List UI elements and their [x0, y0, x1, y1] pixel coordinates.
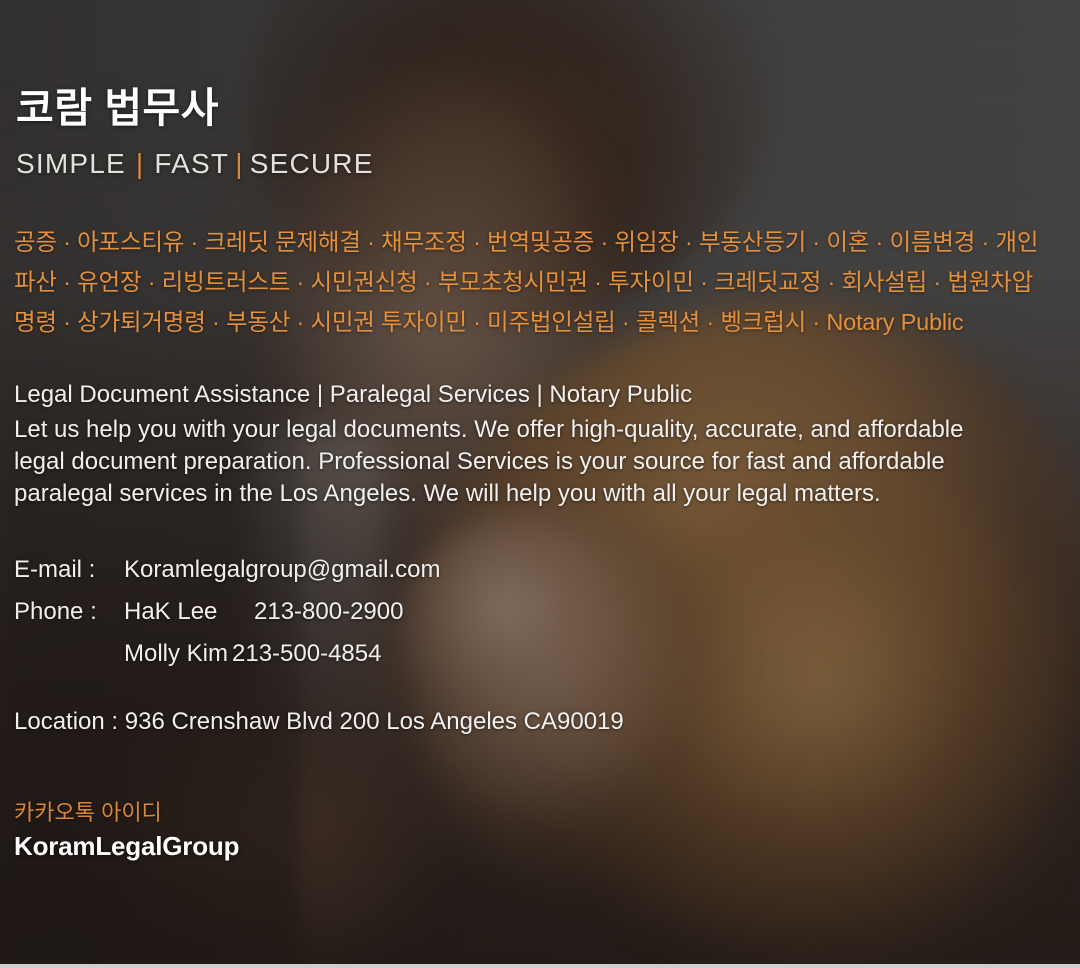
contact-row-phone-secondary: Molly Kim213-500-4854: [14, 640, 441, 682]
services-line-3: 명령 · 상가퇴거명령 · 부동산 · 시민권 투자이민 · 미주법인설립 · …: [14, 302, 1066, 342]
bottom-edge-strip: [0, 964, 1080, 968]
kakao-id-value[interactable]: KoramLegalGroup: [14, 828, 239, 864]
english-paragraph-line-3: paralegal services in the Los Angeles. W…: [14, 478, 1060, 510]
legal-services-poster: 코람 법무사 SIMPLE|FAST|SECURE 공증 · 아포스티유 · 크…: [0, 0, 1080, 968]
english-paragraph-line-1: Let us help you with your legal document…: [14, 414, 1060, 446]
location-address: Location : 936 Crenshaw Blvd 200 Los Ang…: [14, 708, 624, 736]
english-paragraph-line-2: legal document preparation. Professional…: [14, 446, 1060, 478]
phone-secondary-name: Molly Kim: [124, 640, 232, 668]
services-list: 공증 · 아포스티유 · 크레딧 문제해결 · 채무조정 · 번역및공증 · 위…: [14, 222, 1066, 342]
contact-row-phone-primary: Phone : HaK Lee213-800-2900: [14, 598, 441, 640]
brand-tagline: SIMPLE|FAST|SECURE: [16, 148, 374, 180]
phone-secondary-number[interactable]: 213-500-4854: [232, 640, 381, 667]
contact-block: E-mail : Koramlegalgroup@gmail.com Phone…: [14, 556, 441, 682]
tagline-separator-1: |: [126, 148, 154, 179]
phone-primary-number[interactable]: 213-800-2900: [254, 598, 403, 625]
phone-secondary-value: Molly Kim213-500-4854: [124, 640, 381, 668]
phone-label: Phone :: [14, 598, 124, 626]
tagline-word-secure: SECURE: [250, 148, 374, 179]
english-services-heading: Legal Document Assistance | Paralegal Se…: [14, 378, 1060, 412]
phone-primary-value: HaK Lee213-800-2900: [124, 598, 403, 626]
page-title: 코람 법무사: [16, 88, 219, 129]
services-line-2: 파산 · 유언장 · 리빙트러스트 · 시민권신청 · 부모초청시민권 · 투자…: [14, 262, 1066, 302]
kakao-label: 카카오톡 아이디: [14, 798, 239, 828]
english-paragraph: Let us help you with your legal document…: [14, 414, 1060, 510]
poster-content: 코람 법무사 SIMPLE|FAST|SECURE 공증 · 아포스티유 · 크…: [0, 0, 1080, 968]
email-value[interactable]: Koramlegalgroup@gmail.com: [124, 556, 441, 584]
tagline-separator-2: |: [229, 148, 249, 179]
services-line-1: 공증 · 아포스티유 · 크레딧 문제해결 · 채무조정 · 번역및공증 · 위…: [14, 222, 1066, 262]
email-label: E-mail :: [14, 556, 124, 584]
tagline-word-fast: FAST: [154, 148, 229, 179]
phone-primary-name: HaK Lee: [124, 598, 254, 626]
kakao-block: 카카오톡 아이디 KoramLegalGroup: [14, 798, 239, 864]
contact-row-email: E-mail : Koramlegalgroup@gmail.com: [14, 556, 441, 598]
english-description-block: Legal Document Assistance | Paralegal Se…: [14, 378, 1060, 510]
tagline-word-simple: SIMPLE: [16, 148, 126, 179]
